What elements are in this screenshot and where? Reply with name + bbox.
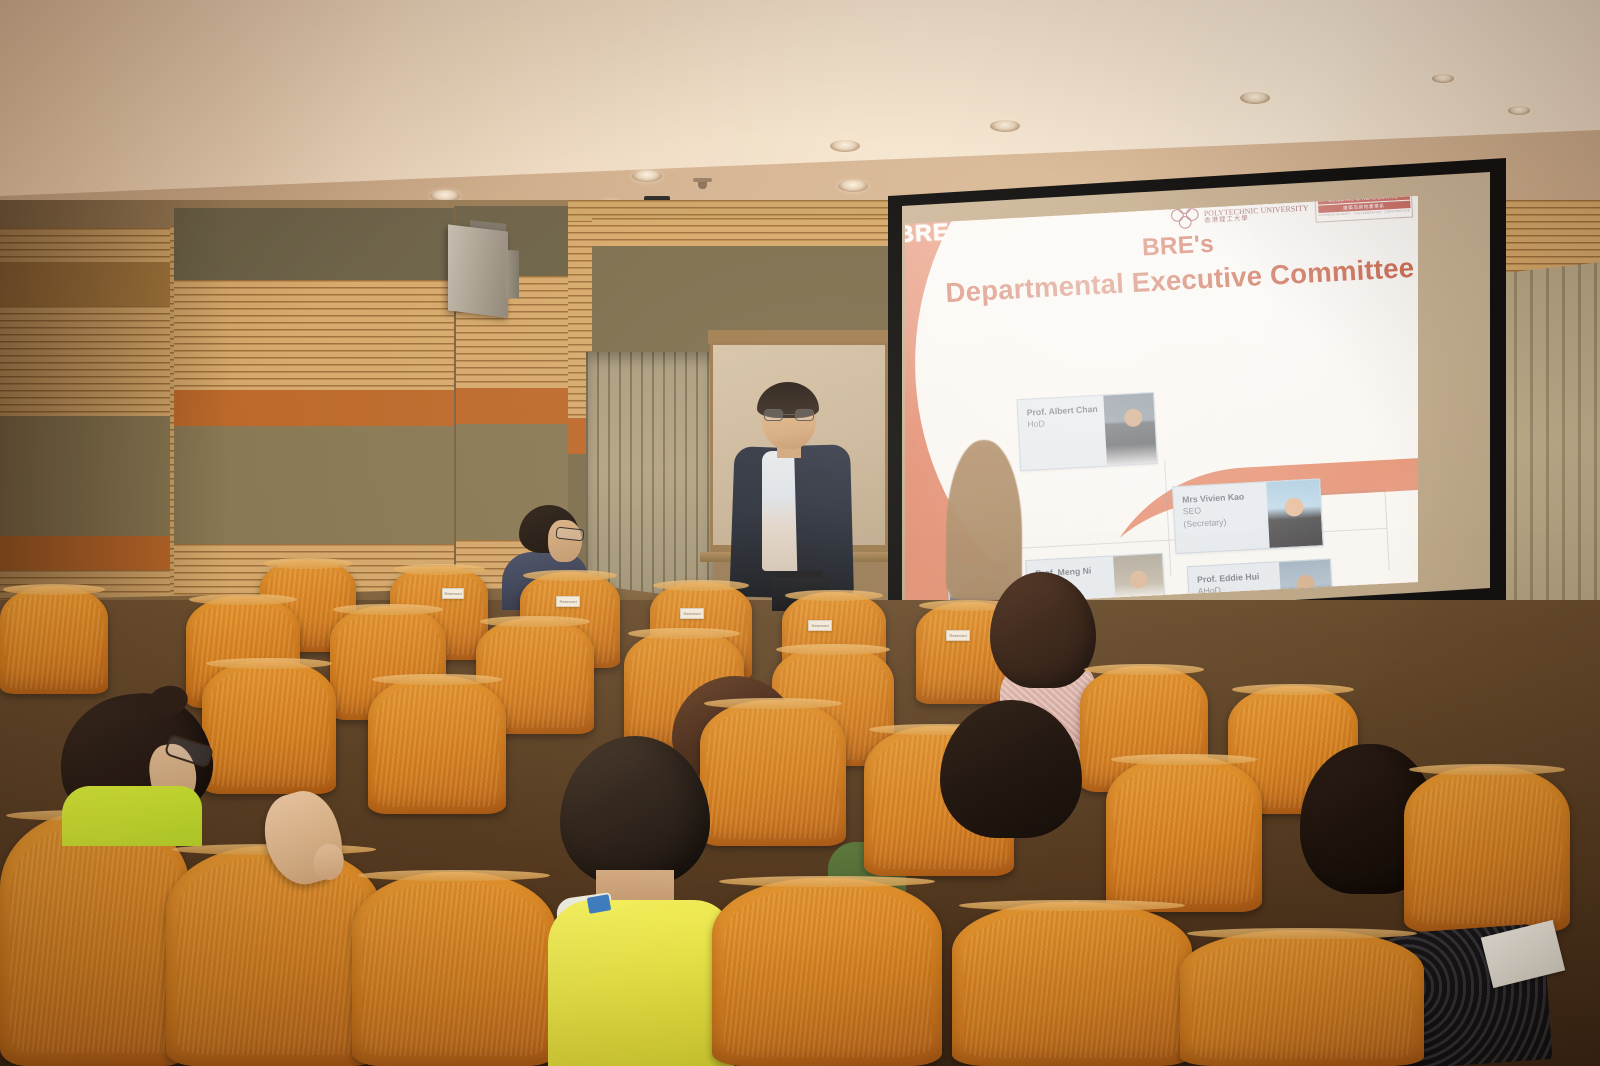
seat[interactable] — [700, 700, 846, 846]
seat[interactable] — [368, 676, 506, 814]
ceiling-downlight — [990, 120, 1020, 132]
seat[interactable] — [166, 846, 382, 1066]
wall-panel-dark — [174, 208, 454, 280]
ceiling-sensor-icon — [698, 178, 707, 189]
ceiling-downlight — [830, 140, 860, 152]
seat-label: Reserved — [680, 608, 704, 619]
ceiling-downlight — [1240, 92, 1270, 104]
seat[interactable] — [352, 872, 556, 1066]
seat[interactable] — [1404, 766, 1570, 932]
seat[interactable] — [1106, 756, 1262, 912]
wall-panel — [0, 536, 170, 570]
org-card: Prof. Albert Chan HoD — [1016, 392, 1157, 471]
seat-label: Reserved — [808, 620, 832, 631]
wall-speaker — [448, 224, 508, 317]
audience-boy-yellow-shirt — [548, 900, 734, 1066]
seat[interactable] — [0, 586, 108, 694]
wall-panel — [174, 280, 454, 390]
wall-panel — [456, 388, 568, 424]
seat-label: Reserved — [946, 630, 970, 641]
wall-panel — [0, 228, 170, 262]
wall-panel — [174, 426, 454, 544]
org-card-role: HoD — [1027, 415, 1099, 431]
lecture-theatre-photo: BRE THE HONG KONG POLYTECHNIC UNIVERSITY… — [0, 0, 1600, 1066]
seat-label: Reserved — [442, 588, 464, 599]
seat[interactable] — [712, 878, 942, 1066]
ceiling-downlight — [1432, 74, 1454, 83]
glasses-icon — [764, 409, 814, 421]
wall-panel — [592, 218, 910, 246]
wall-panel — [0, 416, 170, 536]
audience-woman-yellow-top — [62, 786, 202, 846]
ceiling-downlight — [1508, 106, 1530, 115]
wall-panel — [0, 262, 170, 306]
ceiling-downlight — [632, 170, 662, 182]
seat[interactable] — [0, 812, 190, 1066]
seat[interactable] — [1180, 930, 1424, 1066]
seat[interactable] — [952, 902, 1192, 1066]
org-card-photo — [1103, 393, 1158, 466]
wall-panel — [0, 306, 170, 416]
seat-label: Reserved — [556, 596, 580, 607]
ceiling-downlight — [838, 180, 868, 192]
presenter — [726, 385, 854, 610]
wall-panel — [174, 390, 454, 426]
org-card-photo — [1266, 479, 1322, 547]
org-card: Mrs Vivien Kao SEO (Secretary) — [1172, 478, 1324, 554]
audience-man-face — [548, 520, 582, 562]
seat[interactable] — [202, 660, 336, 794]
